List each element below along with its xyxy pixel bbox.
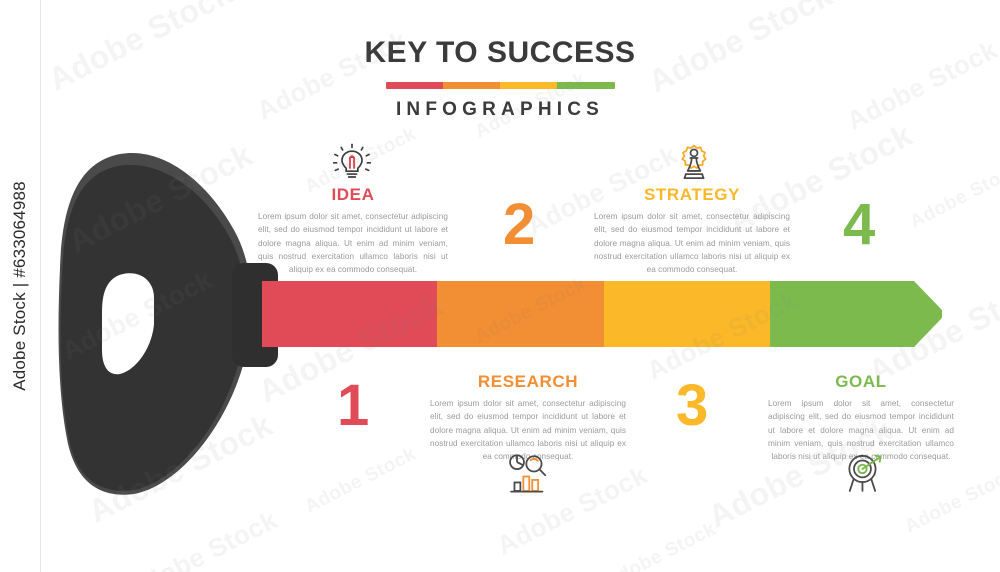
watermark-sidebar: Adobe Stock | #633064988 <box>0 0 41 572</box>
step-block-goal: GOAL Lorem ipsum dolor sit amet, consect… <box>768 373 954 463</box>
shaft-segment-goal <box>770 281 890 347</box>
shaft-segment-research <box>262 281 437 347</box>
step-text-idea: Lorem ipsum dolor sit amet, consectetur … <box>258 210 448 276</box>
step-block-idea: IDEA Lorem ipsum dolor sit amet, consect… <box>258 186 448 276</box>
page-subtitle: INFOGRAPHICS <box>0 100 1000 119</box>
infographic-canvas: Adobe Stock Adobe Stock Adobe Stock Adob… <box>0 0 1000 572</box>
shaft-arrow-tip <box>890 281 942 347</box>
divider-segment-yellow <box>500 82 557 89</box>
step-number-4: 4 <box>843 196 875 254</box>
step-title-idea: IDEA <box>258 186 448 203</box>
watermark-sidebar-label: Adobe Stock | #633064988 <box>10 181 30 391</box>
chart-search-icon <box>506 452 550 496</box>
step-text-strategy: Lorem ipsum dolor sit amet, consectetur … <box>594 210 790 276</box>
title-divider-bar <box>386 82 615 89</box>
watermark-tile: Adobe Stock <box>302 444 420 519</box>
page-title: KEY TO SUCCESS <box>0 38 1000 68</box>
divider-segment-green <box>557 82 614 89</box>
page-header: KEY TO SUCCESS INFOGRAPHICS <box>0 38 1000 119</box>
watermark-tile: Adobe Stock <box>907 159 1000 234</box>
chess-pawn-gear-icon <box>674 142 714 182</box>
target-arrow-icon <box>843 452 887 496</box>
watermark-tile: Adobe Stock <box>902 464 1000 539</box>
step-block-strategy: STRATEGY Lorem ipsum dolor sit amet, con… <box>594 186 790 276</box>
lightbulb-icon <box>332 142 372 182</box>
watermark-tile: Adobe Stock <box>602 519 720 572</box>
step-number-1: 1 <box>337 377 369 435</box>
watermark-tile: Adobe Stock <box>122 504 283 572</box>
step-title-strategy: STRATEGY <box>594 186 790 203</box>
step-title-research: RESEARCH <box>430 373 626 390</box>
step-title-goal: GOAL <box>768 373 954 390</box>
key-shaft <box>262 281 942 347</box>
step-block-research: RESEARCH Lorem ipsum dolor sit amet, con… <box>430 373 626 463</box>
shaft-segment-strategy <box>604 281 770 347</box>
shaft-segment-idea <box>437 281 604 347</box>
step-number-3: 3 <box>676 377 708 435</box>
divider-segment-red <box>386 82 443 89</box>
divider-segment-orange <box>443 82 500 89</box>
step-number-2: 2 <box>503 196 535 254</box>
